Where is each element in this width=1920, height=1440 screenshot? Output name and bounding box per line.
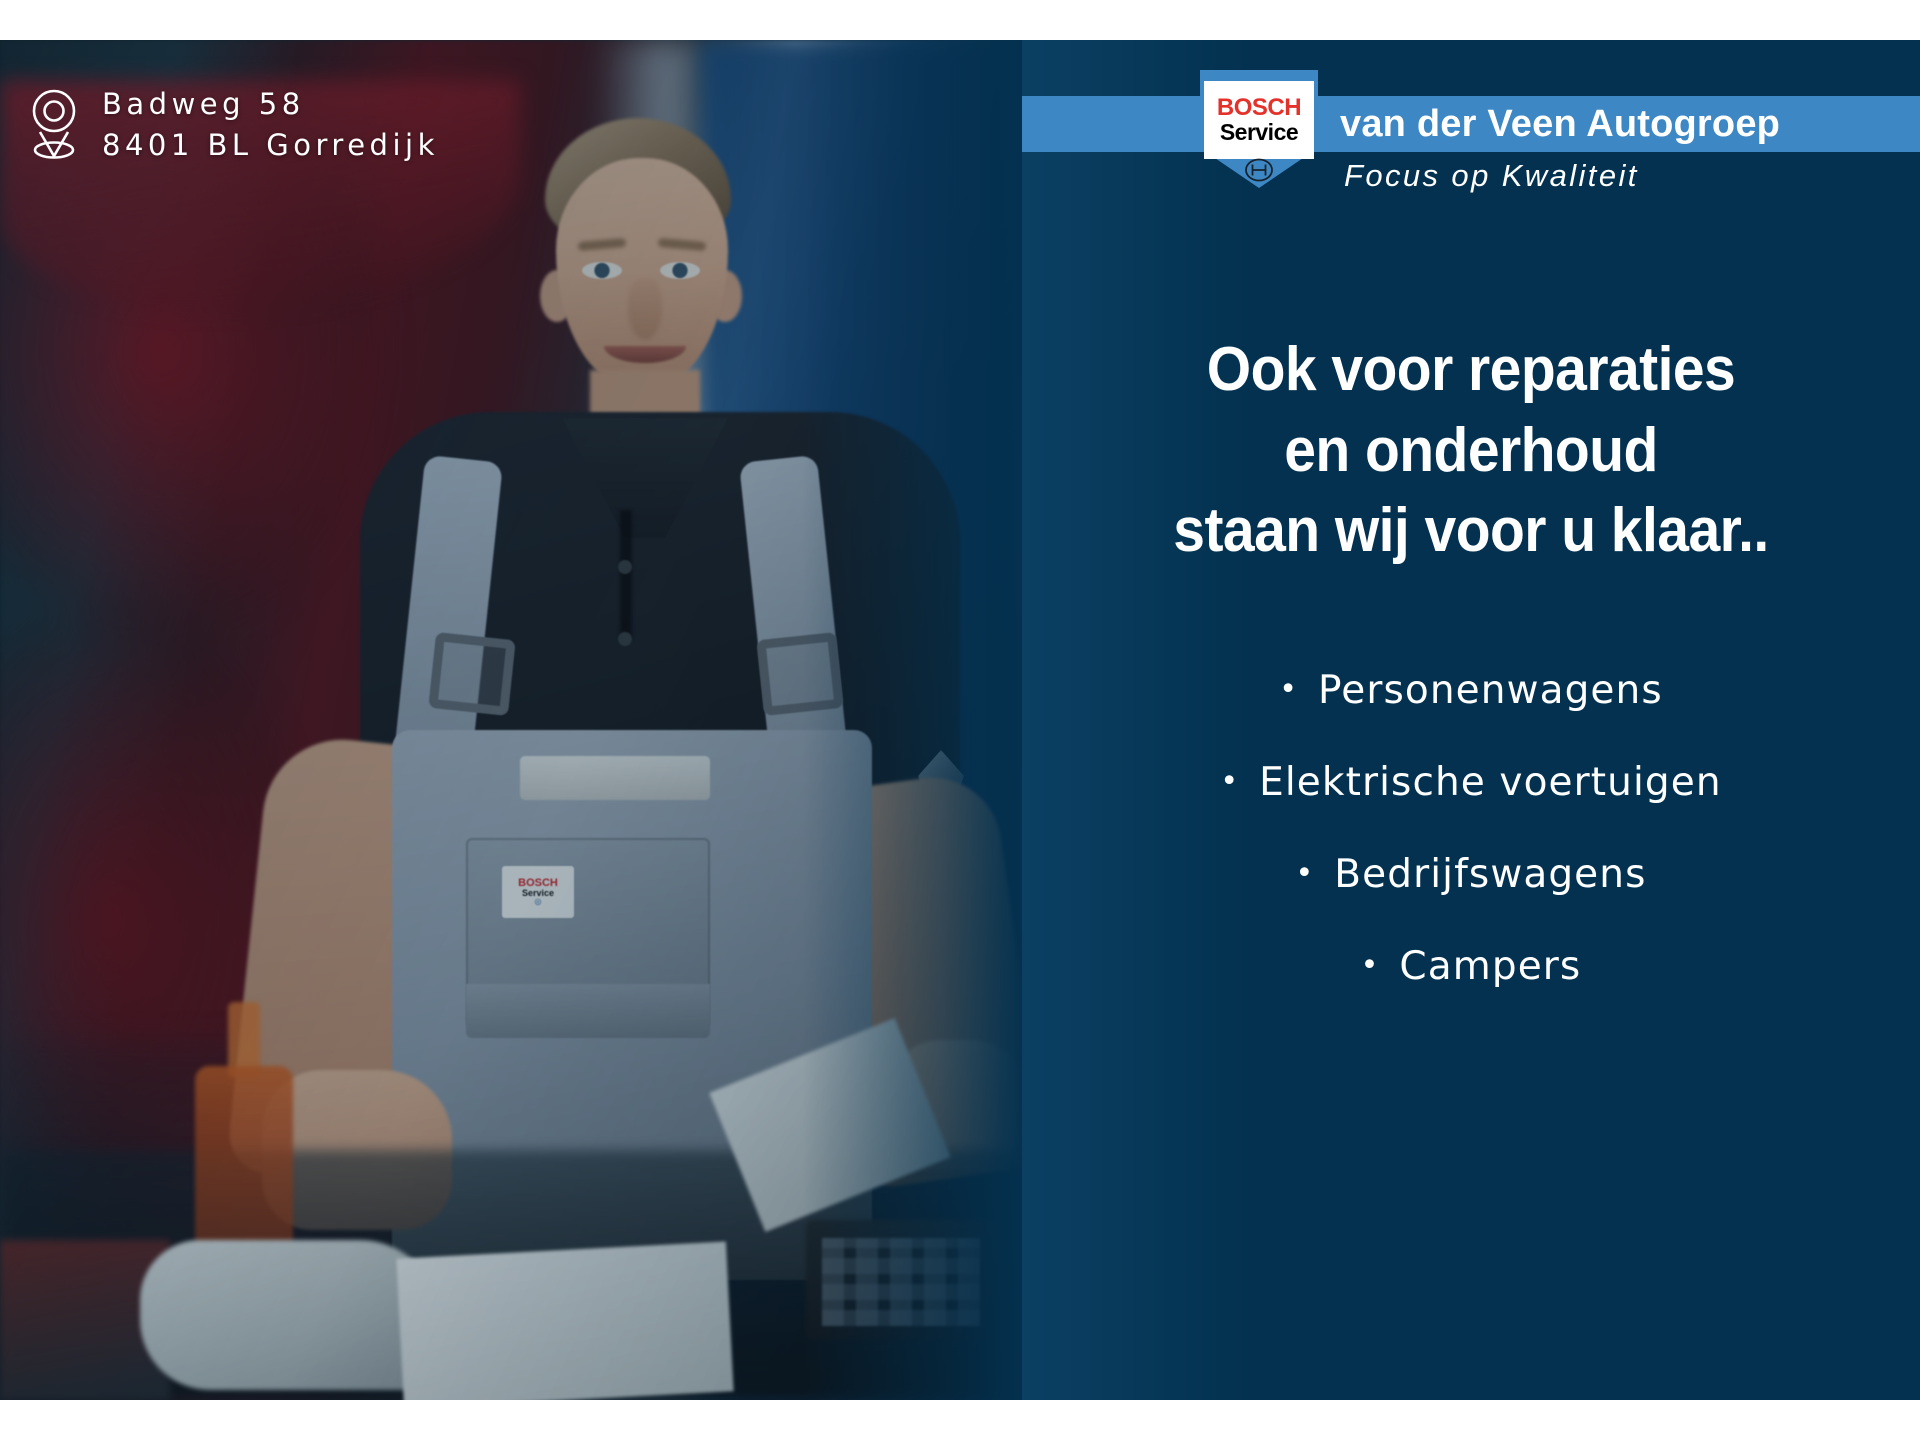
list-item: Personenwagens (1022, 668, 1920, 713)
company-tagline: Focus op Kwaliteit (1344, 158, 1639, 194)
photo-scene: BOSCH Service ◎ (0, 40, 1022, 1400)
services-list: Personenwagens Elektrische voertuigen Be… (1022, 668, 1920, 1036)
location-pin-icon (28, 88, 80, 165)
list-item: Bedrijfswagens (1022, 852, 1920, 897)
service-wordmark: Service (1220, 121, 1298, 144)
brand-header: BOSCH Service van der Veen Autogroep Foc… (1022, 62, 1920, 212)
headline-line-2: en onderhoud (1058, 411, 1884, 492)
banner-canvas: BOSCH Service ◎ (0, 40, 1920, 1400)
advertisement-banner: BOSCH Service ◎ (0, 0, 1920, 1440)
shield-label: BOSCH Service (1204, 81, 1314, 159)
company-name: van der Veen Autogroep (1340, 96, 1780, 152)
bosch-service-shield-icon: BOSCH Service (1200, 70, 1318, 188)
address-line-2: 8401 BL Gorredijk (102, 125, 439, 166)
list-item: Campers (1022, 944, 1920, 989)
list-item: Elektrische voertuigen (1022, 760, 1920, 805)
address-line-1: Badweg 58 (102, 84, 439, 125)
photo-edge-fade (802, 40, 1022, 1400)
headline: Ook voor reparaties en onderhoud staan w… (1058, 330, 1884, 572)
headline-line-1: Ook voor reparaties (1058, 330, 1884, 411)
address-overlay: Badweg 58 8401 BL Gorredijk (28, 84, 439, 166)
bosch-wordmark: BOSCH (1217, 96, 1301, 120)
bosch-armature-icon (1244, 158, 1274, 182)
headline-line-3: staan wij voor u klaar.. (1058, 491, 1884, 572)
info-panel: BOSCH Service van der Veen Autogroep Foc… (1022, 40, 1920, 1400)
mechanic-photo: BOSCH Service ◎ (0, 40, 1022, 1400)
address-text: Badweg 58 8401 BL Gorredijk (102, 84, 439, 166)
